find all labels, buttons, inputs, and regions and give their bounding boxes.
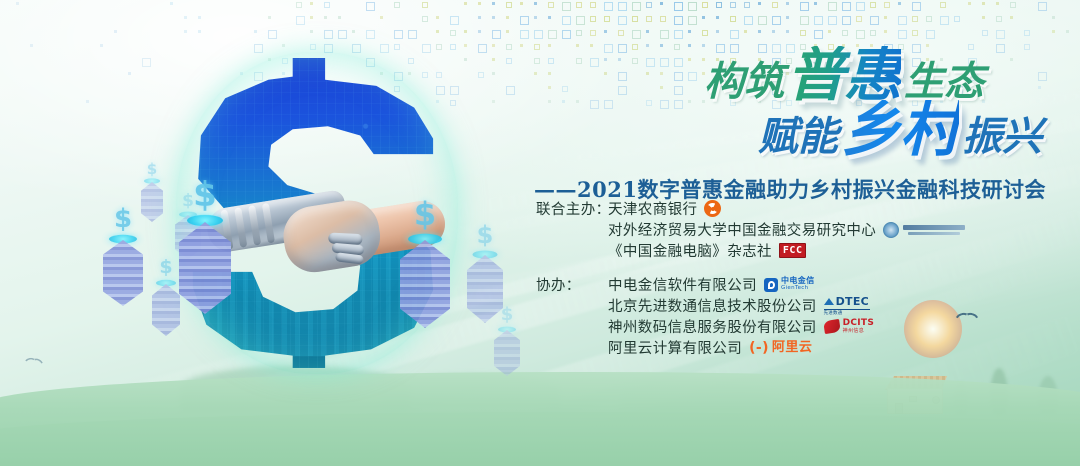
credit-row: 北京先进数通信息技术股份公司 DTEC 先进数通 [536, 295, 1016, 316]
credit-label-supporters: 协办： [536, 274, 608, 295]
credit-row: 《中国金融电脑》杂志社 FCC [536, 240, 1016, 261]
credit-row: 联合主办： 天津农商银行 [536, 198, 1016, 219]
credit-org-name: 天津农商银行 [608, 198, 697, 219]
credit-row: 对外经济贸易大学中国金融交易研究中心 [536, 219, 1016, 240]
credit-org-name: 阿里云计算有限公司 [608, 337, 742, 358]
tjrcb-logo [704, 200, 721, 218]
title-word-gouzhu: 构筑 [704, 62, 784, 102]
dtec-logo: DTEC 先进数通 [824, 297, 870, 315]
coin-stack: $ [141, 182, 163, 222]
poster-title-block: 构筑普惠生态 赋能乡村振兴 ——2021数字普惠金融助力乡村振兴金融科技研讨会 [446, 46, 1046, 204]
fcc-logo: FCC [779, 242, 807, 260]
credit-group-supporters: 协办： 中电金信软件有限公司 中电金信 GienTech 北京先进数通信息技术股… [536, 274, 1016, 358]
credit-org-name: 《中国金融电脑》杂志社 [608, 240, 772, 261]
coin-stack: $ [103, 240, 143, 306]
credit-org-name: 中电金信软件有限公司 [608, 274, 757, 295]
credit-row: 神州数码信息服务股份有限公司 DCITS 神州信息 [536, 316, 1016, 337]
title-word-zhenxing: 振兴 [962, 117, 1042, 157]
swallow-icon [24, 357, 43, 369]
aliyun-logo: (-) 阿里云 [749, 339, 812, 357]
credit-org-name: 对外经济贸易大学中国金融交易研究中心 [608, 219, 876, 240]
title-word-xiangcun: 乡村 [841, 100, 959, 160]
title-line-2: 赋能乡村振兴 [446, 100, 1042, 160]
dcits-logo: DCITS 神州信息 [824, 318, 875, 336]
coin-stack: $ [152, 284, 180, 336]
credit-org-name: 神州数码信息服务股份有限公司 [608, 316, 817, 337]
credit-label-co-hosts: 联合主办： [536, 198, 608, 219]
credit-org-name: 北京先进数通信息技术股份公司 [608, 295, 817, 316]
gientech-logo: 中电金信 GienTech [764, 276, 815, 294]
event-poster: $ $ $ $ $ $ $ $ 构筑普惠生态 [0, 0, 1080, 466]
coin-stack: $ [400, 240, 450, 328]
credits-block: 联合主办： 天津农商银行 对外经济贸易大学中国金融交易研究中心 《中国金融电脑》… [536, 198, 1016, 371]
credit-group-co-hosts: 联合主办： 天津农商银行 对外经济贸易大学中国金融交易研究中心 《中国金融电脑》… [536, 198, 1016, 261]
coin-stack: $ [467, 255, 503, 323]
credit-row: 协办： 中电金信软件有限公司 中电金信 GienTech [536, 274, 1016, 295]
uibe-logo [883, 221, 965, 239]
title-word-funeng: 赋能 [758, 117, 838, 157]
coin-stack: $ [179, 222, 231, 314]
coin-stack: $ [494, 330, 520, 376]
credit-row: 阿里云计算有限公司 (-) 阿里云 [536, 337, 1016, 358]
